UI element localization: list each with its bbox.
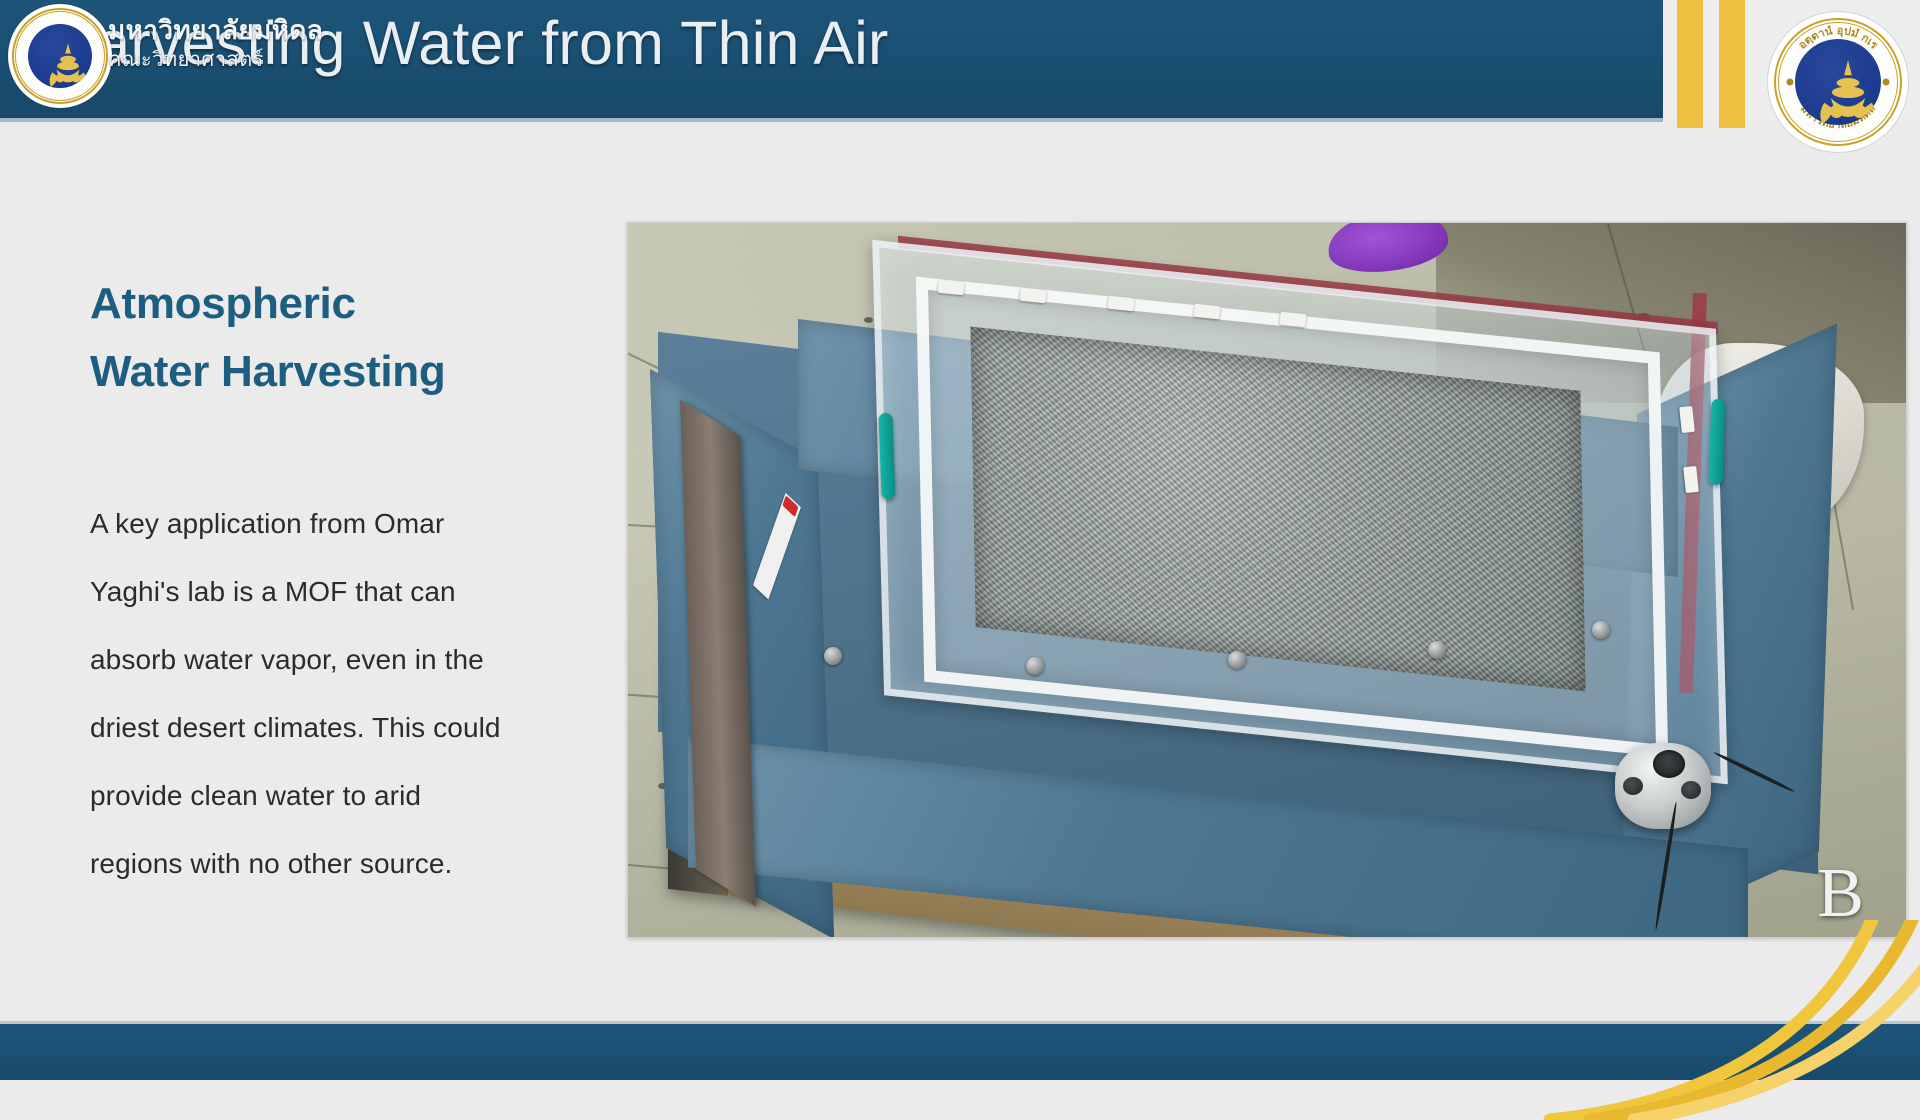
gold-swoosh-decoration xyxy=(1420,920,1920,1120)
content-column-left: Atmospheric Water Harvesting A key appli… xyxy=(90,270,590,898)
photo-content: B xyxy=(628,223,1906,937)
frame-bolt xyxy=(1592,621,1610,639)
section-heading: Atmospheric Water Harvesting xyxy=(90,270,590,406)
frame-bolt xyxy=(1228,651,1246,669)
frame-clip xyxy=(937,280,964,296)
frame-clip xyxy=(1279,312,1306,328)
header-bar-edge xyxy=(0,118,1920,122)
frame-clip xyxy=(1679,406,1695,433)
slide-canvas: Harvesting Water from Thin Air ม xyxy=(0,0,1920,1080)
seal-inner-disc xyxy=(28,24,93,89)
paragraph-line: regions with no other source. xyxy=(90,830,590,898)
seal-inner-disc xyxy=(1795,39,1882,126)
ground-speck xyxy=(864,317,873,323)
photo-watermark: B xyxy=(1817,859,1864,929)
teal-handle-left xyxy=(879,413,896,499)
frame-bolt xyxy=(1428,641,1446,659)
paragraph-line: absorb water vapor, even in the xyxy=(90,626,590,694)
frame-clip xyxy=(1193,304,1220,320)
frame-clip xyxy=(1019,288,1046,304)
frame-clip xyxy=(1683,466,1699,493)
metal-valve-fitting xyxy=(1615,743,1711,829)
paragraph-line: Yaghi's lab is a MOF that can xyxy=(90,558,590,626)
prototype-photo: B xyxy=(627,222,1907,938)
paragraph-line: driest desert climates. This could xyxy=(90,694,590,762)
valve-port xyxy=(1681,781,1701,799)
frame-bolt xyxy=(1026,657,1044,675)
valve-port xyxy=(1623,777,1643,795)
faculty-name-thai: คณะวิทยาศาสตร์ xyxy=(108,46,323,72)
mahidol-seal-icon-right: อตฺตานํ อุปมํ กเร มหาวิทยาลัยมหิดล xyxy=(1768,12,1908,152)
gold-accent-bar-1 xyxy=(1677,0,1703,128)
university-name-thai: มหาวิทยาลัยมหิดล xyxy=(108,16,323,46)
section-heading-line-1: Atmospheric xyxy=(90,270,590,338)
gold-accent-bar-2 xyxy=(1719,0,1745,128)
paragraph-line: provide clean water to arid xyxy=(90,762,590,830)
teal-handle-right xyxy=(1709,399,1726,485)
frame-clip xyxy=(1107,296,1134,312)
frame-bolt xyxy=(824,647,842,665)
body-paragraph: A key application from Omar Yaghi's lab … xyxy=(90,490,590,898)
paragraph-line: A key application from Omar xyxy=(90,490,590,558)
mahidol-seal-icon-left xyxy=(8,4,112,108)
section-heading-line-2: Water Harvesting xyxy=(90,338,590,406)
organization-name-thai: มหาวิทยาลัยมหิดล คณะวิทยาศาสตร์ xyxy=(108,16,323,72)
footer-bar xyxy=(0,1024,1920,1080)
